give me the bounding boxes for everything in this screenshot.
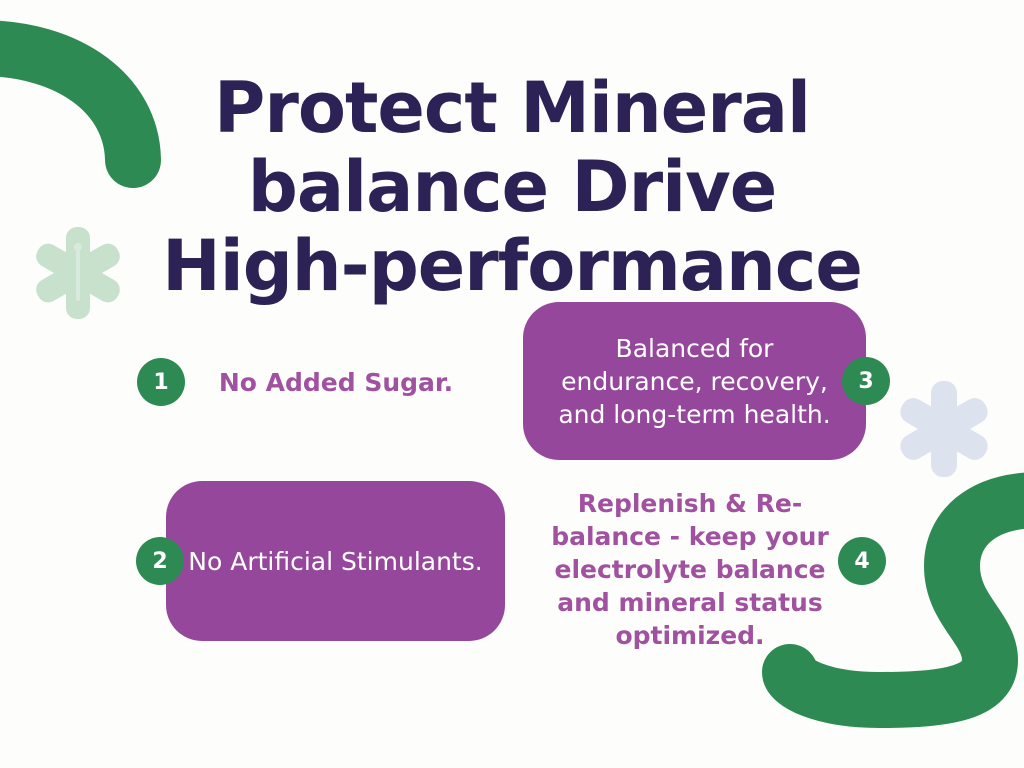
page-title-line-1: Protect Mineral: [0, 69, 1024, 148]
item-3-card: Balanced for endurance, recovery, and lo…: [523, 302, 866, 460]
item-2-label: No Artificial Stimulants.: [188, 545, 482, 578]
item-2-card: No Artificial Stimulants.: [166, 481, 505, 641]
item-4-text: Replenish & Re-balance - keep your elect…: [540, 487, 840, 652]
page-title-line-2: balance Drive: [0, 148, 1024, 227]
item-1-number-badge: 1: [137, 358, 185, 406]
item-2-number-badge: 2: [136, 537, 184, 585]
item-1-number: 1: [153, 370, 168, 395]
item-4-label: Replenish & Re-balance - keep your elect…: [551, 489, 829, 650]
item-3-number: 3: [858, 369, 873, 394]
item-2-number: 2: [152, 549, 167, 574]
item-1-label: No Added Sugar.: [219, 368, 453, 397]
item-3-number-badge: 3: [842, 357, 890, 405]
asterisk-right-icon: [896, 381, 992, 477]
item-4-number: 4: [854, 549, 869, 574]
page-title-line-3: High-performance: [0, 227, 1024, 306]
page-title: Protect Mineral balance Drive High-perfo…: [0, 69, 1024, 306]
item-3-label: Balanced for endurance, recovery, and lo…: [541, 332, 848, 431]
item-1-text: No Added Sugar.: [196, 366, 476, 400]
infographic-canvas: Protect Mineral balance Drive High-perfo…: [0, 0, 1024, 768]
item-4-number-badge: 4: [838, 537, 886, 585]
